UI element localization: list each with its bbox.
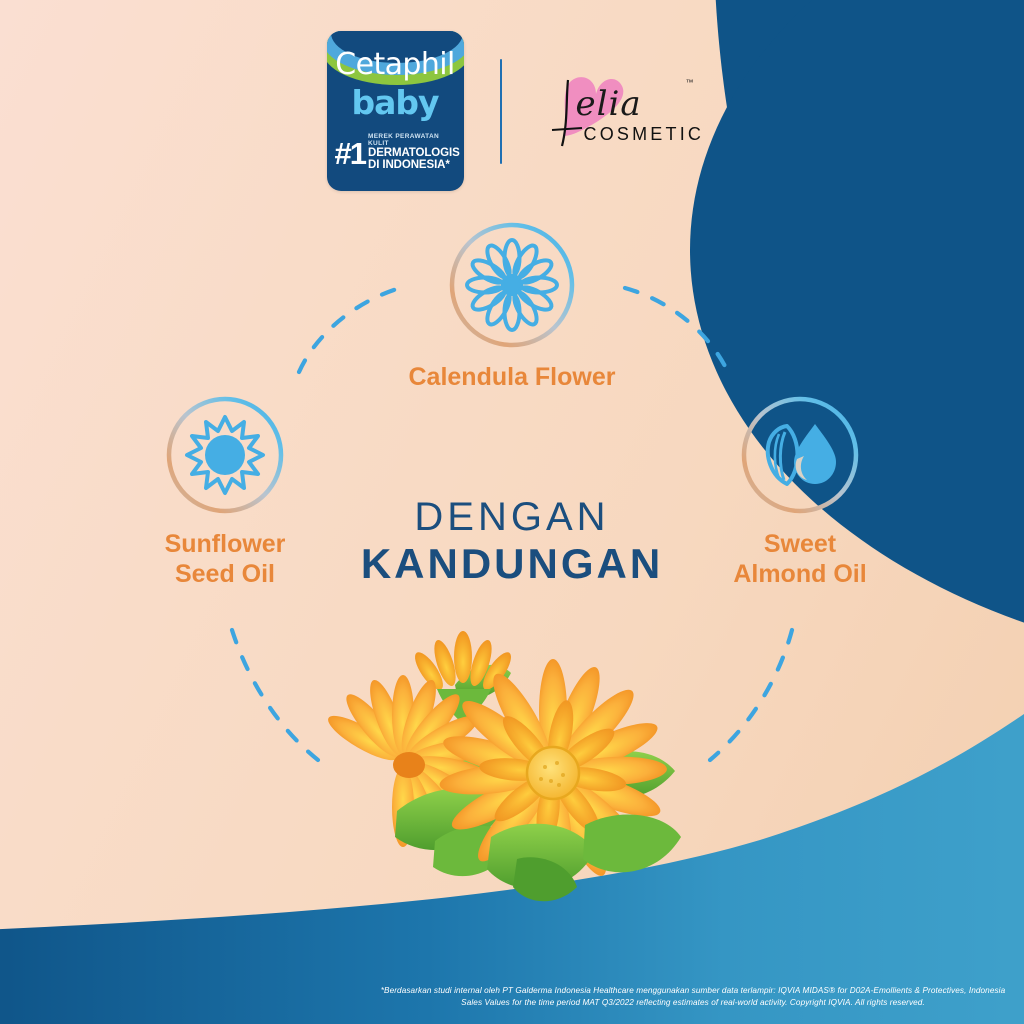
rank-badge: #1 MEREK PERAWATAN KULIT DERMATOLOGIS DI… — [335, 127, 456, 179]
header-logos: Cetaphil baby #1 MEREK PERAWATAN KULIT D… — [0, 26, 1024, 196]
belia-cosmetic-text: COSMETIC — [584, 124, 705, 145]
belia-cosmetic-logo: elia COSMETIC ™ — [538, 70, 698, 152]
badge-line-bottom: DI INDONESIA* — [368, 160, 460, 172]
ingredient-sunflower[interactable]: Sunflower Seed Oil — [85, 396, 365, 589]
trademark-symbol: ™ — [686, 78, 694, 87]
footer-disclaimer: *Berdasarkan studi internal oleh PT Gald… — [370, 985, 1016, 1010]
almond-label-line1: Sweet — [660, 530, 940, 560]
poster-canvas: Cetaphil baby #1 MEREK PERAWATAN KULIT D… — [0, 0, 1024, 1024]
ingredient-calendula[interactable]: Calendula Flower — [382, 222, 642, 393]
sunflower-label-line1: Sunflower — [85, 530, 365, 560]
cetaphil-baby-logo: Cetaphil baby #1 MEREK PERAWATAN KULIT D… — [327, 31, 464, 191]
sunflower-label-line2: Seed Oil — [85, 560, 365, 590]
almond-label: Sweet Almond Oil — [660, 530, 940, 589]
almond-droplet-icon — [741, 396, 859, 514]
badge-line-mid: DERMATOLOGIS — [368, 148, 460, 160]
badge-line-top: MEREK PERAWATAN KULIT — [368, 134, 460, 148]
almond-ring — [741, 396, 859, 514]
calendula-label: Calendula Flower — [382, 363, 642, 393]
sunflower-ring — [166, 396, 284, 514]
almond-label-line2: Almond Oil — [660, 560, 940, 590]
calendula-flower-illustration — [285, 615, 735, 915]
daisy-flower-icon — [449, 222, 575, 348]
cetaphil-wordmark: Cetaphil — [327, 47, 464, 82]
belia-script-text: elia — [576, 84, 642, 124]
baby-wordmark: baby — [327, 83, 464, 122]
logo-divider — [500, 59, 502, 164]
sunflower-label: Sunflower Seed Oil — [85, 530, 365, 589]
sunflower-icon — [166, 396, 284, 514]
ingredient-almond[interactable]: Sweet Almond Oil — [660, 396, 940, 589]
calendula-ring — [449, 222, 575, 348]
badge-rank: #1 — [335, 138, 365, 169]
